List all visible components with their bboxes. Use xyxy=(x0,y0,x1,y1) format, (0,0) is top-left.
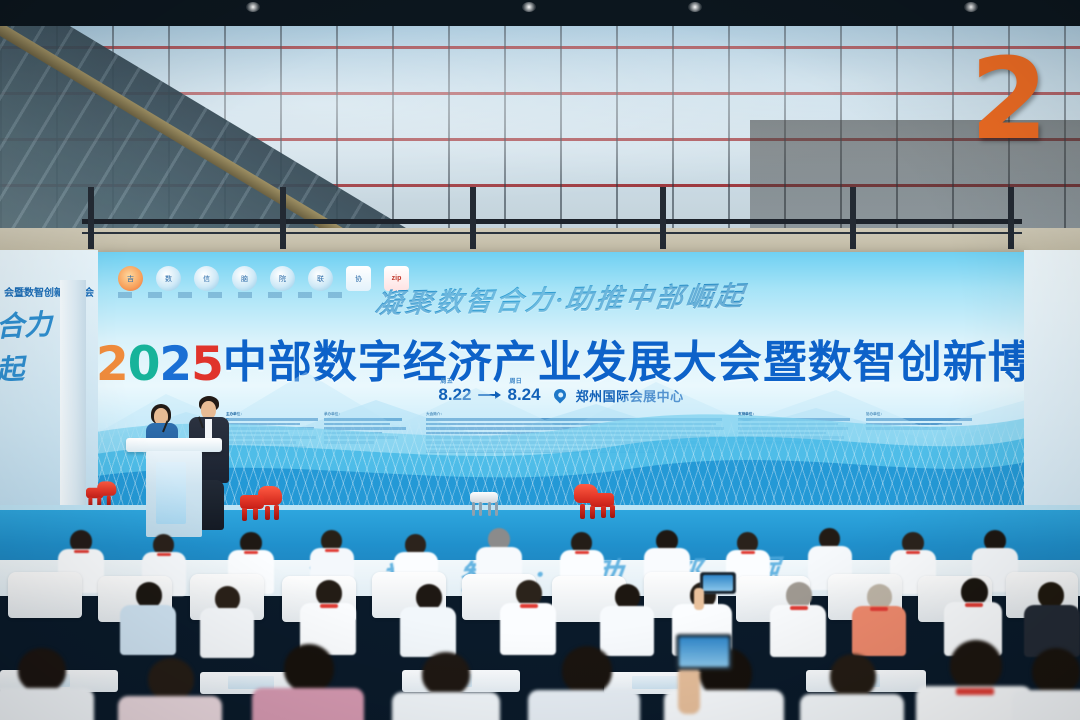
side-banner-slogan-2: 起 xyxy=(0,353,25,388)
attendee-head xyxy=(148,658,194,700)
attendee-head xyxy=(18,648,66,692)
attendee-photographer xyxy=(664,628,784,720)
lanyard xyxy=(870,607,888,611)
attendee xyxy=(400,584,456,654)
robot-dog-leg xyxy=(488,502,491,516)
attendee-body xyxy=(120,605,176,655)
robot-dog-leg xyxy=(495,502,498,516)
raised-arm xyxy=(694,588,704,610)
stage-light-icon xyxy=(914,223,932,253)
lanyard xyxy=(320,604,338,608)
downlight-icon xyxy=(246,2,260,12)
lanyard xyxy=(244,551,258,554)
robot-dog-leg xyxy=(479,502,482,516)
lanyard xyxy=(325,549,339,552)
truss-post xyxy=(88,187,94,249)
attendee-head xyxy=(961,578,988,605)
lanyard xyxy=(157,553,171,556)
lanyard xyxy=(520,604,538,608)
lion-dance-robot-right xyxy=(574,484,618,518)
lectern-front-panel xyxy=(156,462,186,524)
conference-photo-scene: 2 吉 数 信 xyxy=(0,0,1080,720)
lanyard xyxy=(74,550,89,553)
attendee xyxy=(200,586,254,654)
attendee-head xyxy=(562,646,612,694)
lanyard xyxy=(575,551,589,554)
attendee-body xyxy=(852,606,906,656)
lanyard xyxy=(965,603,983,607)
stage-light-icon xyxy=(626,223,644,253)
attendee xyxy=(0,648,94,720)
attendee-body xyxy=(200,608,254,658)
attendee xyxy=(528,646,640,720)
smartphone-icon[interactable] xyxy=(676,634,732,670)
side-banner-slogan-1: 合力 xyxy=(0,309,53,346)
attendee xyxy=(600,584,654,654)
attendee-head xyxy=(422,652,470,696)
truss-post xyxy=(850,187,856,249)
attendee-body xyxy=(118,696,222,720)
attendee-head xyxy=(830,654,876,698)
stage-light-icon xyxy=(328,223,346,253)
lectern-top xyxy=(126,438,222,452)
attendee-body xyxy=(252,688,364,720)
lanyard xyxy=(906,551,920,554)
attendee-body xyxy=(392,692,500,720)
attendee xyxy=(300,580,356,652)
hall-number-sign: 2 xyxy=(970,48,1048,152)
lanyard xyxy=(741,551,755,554)
wave-mesh-overlay xyxy=(96,418,1026,510)
stage-side-pillar xyxy=(60,280,86,530)
attendee-body xyxy=(400,607,456,657)
attendee xyxy=(852,584,906,654)
smartphone-icon[interactable] xyxy=(700,572,736,594)
lanyard xyxy=(956,688,994,695)
downlight-icon xyxy=(964,2,978,12)
lanyard xyxy=(790,606,808,610)
right-side-banner xyxy=(1024,250,1080,535)
attendee xyxy=(1012,648,1080,720)
attendee-body xyxy=(528,690,640,720)
chair xyxy=(8,572,82,618)
downlight-icon xyxy=(688,2,702,12)
ceiling-soffit xyxy=(0,0,1080,26)
attendee xyxy=(118,658,222,720)
attendee xyxy=(252,644,364,720)
robot-dog-leg xyxy=(472,502,475,516)
audience-area xyxy=(0,520,1080,720)
attendee-body xyxy=(1012,690,1080,720)
robot-dog-center xyxy=(467,492,501,516)
attendee-head xyxy=(1032,648,1080,694)
attendee-body xyxy=(0,688,94,720)
attendee xyxy=(120,582,176,652)
attendee xyxy=(800,654,904,720)
stage-light-icon xyxy=(772,223,790,253)
attendee xyxy=(392,652,500,720)
raised-arm xyxy=(678,666,700,714)
downlight-icon xyxy=(522,2,536,12)
lion-dance-robot-left xyxy=(238,486,282,520)
attendee-head xyxy=(284,644,334,692)
attendee xyxy=(500,580,556,652)
attendee xyxy=(1024,582,1080,656)
stage-light-icon xyxy=(140,223,158,253)
attendee-body xyxy=(800,694,904,720)
attendee-head xyxy=(950,640,1002,690)
stage-light-icon xyxy=(474,223,492,253)
led-main-banner: 吉 数 信 脑 院 联 协 zip 凝聚数智合力·助推中部崛起 2025中部数字… xyxy=(96,252,1026,510)
